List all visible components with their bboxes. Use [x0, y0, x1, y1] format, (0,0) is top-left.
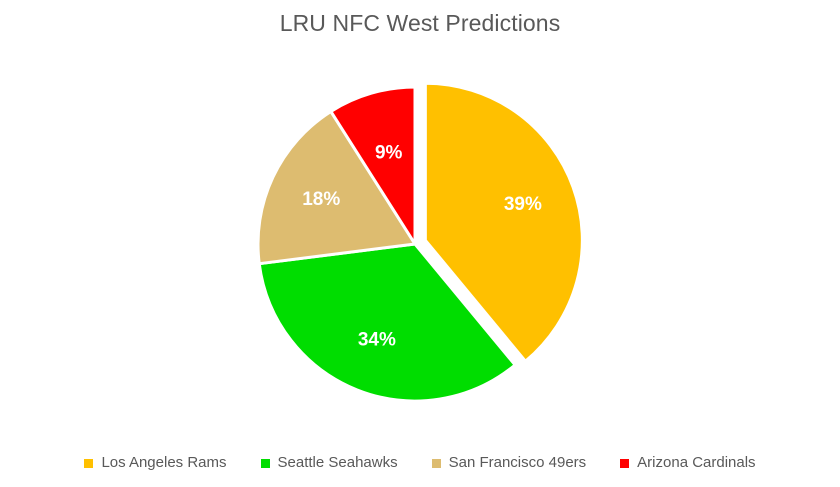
plot-area: 39%34%18%9% — [0, 60, 840, 430]
legend-swatch-icon — [261, 459, 270, 468]
pie-slice-label: 39% — [504, 194, 542, 215]
legend-swatch-icon — [432, 459, 441, 468]
legend-swatch-icon — [84, 459, 93, 468]
legend-label: Arizona Cardinals — [637, 454, 755, 472]
legend-label: Los Angeles Rams — [101, 454, 226, 472]
pie-slice-group — [258, 83, 582, 401]
legend-item-los-angeles-rams[interactable]: Los Angeles Rams — [84, 454, 226, 472]
legend-label: San Francisco 49ers — [449, 454, 587, 472]
legend-item-seattle-seahawks[interactable]: Seattle Seahawks — [261, 454, 398, 472]
pie-svg: 39%34%18%9% — [0, 60, 840, 430]
legend-item-arizona-cardinals[interactable]: Arizona Cardinals — [620, 454, 755, 472]
pie-slice-label: 9% — [375, 143, 403, 164]
pie-slice-label: 34% — [358, 329, 396, 350]
legend-item-san-francisco-49ers[interactable]: San Francisco 49ers — [432, 454, 587, 472]
legend-label: Seattle Seahawks — [278, 454, 398, 472]
pie-slice-label: 18% — [302, 189, 340, 210]
chart-title: LRU NFC West Predictions — [0, 6, 840, 40]
chart-legend: Los Angeles Rams Seattle Seahawks San Fr… — [0, 448, 840, 478]
pie-chart-figure: LRU NFC West Predictions 39%34%18%9% Los… — [0, 0, 840, 487]
legend-swatch-icon — [620, 459, 629, 468]
